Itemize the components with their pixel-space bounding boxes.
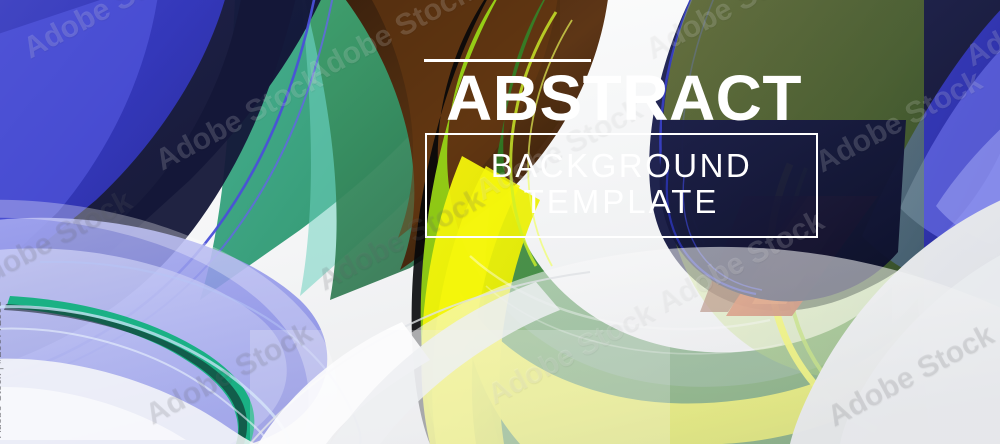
stock-image-canvas: Adobe Stock Adobe Stock Adobe Stock Adob… [0, 0, 1000, 444]
abstract-artwork [0, 0, 1000, 444]
